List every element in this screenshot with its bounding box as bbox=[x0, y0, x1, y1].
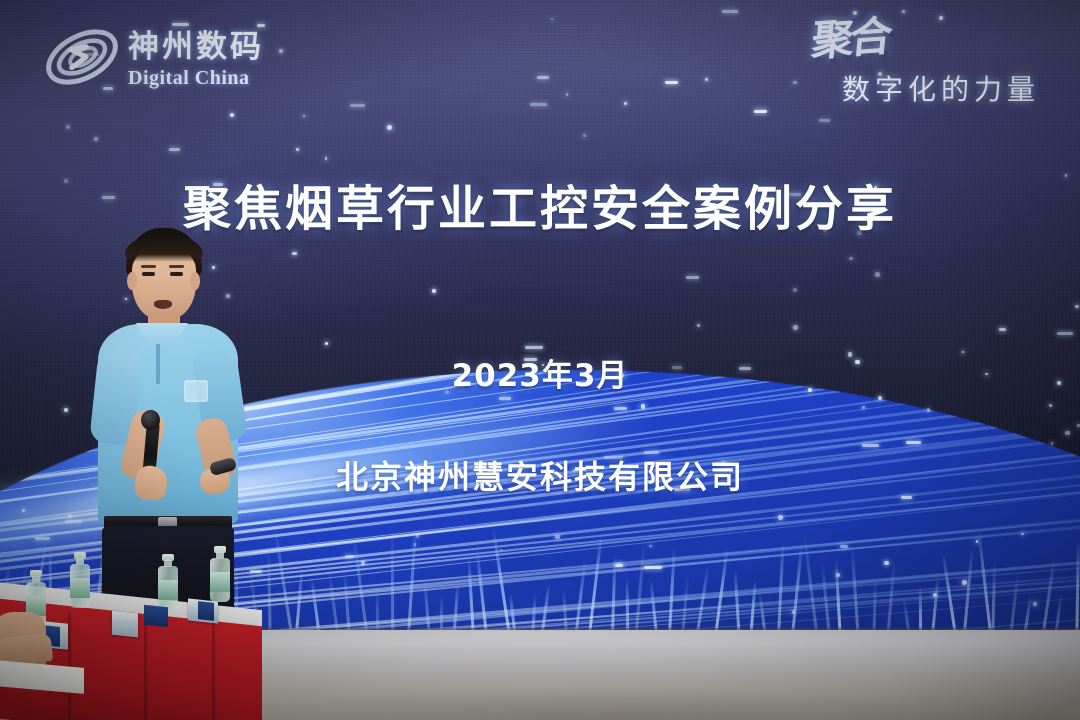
logo-name-en: Digital China bbox=[128, 68, 250, 88]
name-placard-blue-panel bbox=[198, 601, 214, 621]
digital-china-spiral-logo-icon bbox=[42, 24, 122, 90]
name-placard bbox=[112, 611, 138, 638]
speaker-eyebrow-left bbox=[141, 265, 156, 268]
digital-china-logo: 神州数码 Digital China bbox=[42, 18, 342, 98]
speaker-shirt-placket bbox=[156, 344, 160, 384]
conference-stage-photo: 神州数码 Digital China 聚合 数字化的力量 聚焦烟草行业工控安全案… bbox=[0, 0, 1080, 720]
speaker-eye-left bbox=[142, 272, 155, 276]
brand-calligraphy: 聚合 bbox=[810, 15, 890, 62]
bottle-label bbox=[158, 580, 178, 600]
speaker-mouth bbox=[154, 300, 172, 309]
speaker-eye-right bbox=[170, 272, 183, 276]
speaker-ear-left bbox=[127, 272, 137, 290]
logo-name-cn: 神州数码 bbox=[128, 32, 264, 63]
table-skirt-fold bbox=[144, 612, 147, 720]
speaker-hair-fringe bbox=[125, 236, 203, 262]
brand-tagline: 数字化的力量 bbox=[842, 76, 1040, 104]
table-skirt-fold bbox=[212, 612, 215, 720]
bottle-label bbox=[70, 578, 90, 598]
bottle-label bbox=[210, 572, 230, 592]
speaker-ear-right bbox=[190, 272, 200, 290]
event-branding: 聚合 数字化的力量 bbox=[806, 16, 1066, 116]
stage-floor-shadow bbox=[250, 660, 1080, 720]
speaker-shirt-logo-patch bbox=[184, 380, 208, 402]
speaker-eyebrow-right bbox=[169, 265, 184, 268]
name-placard-blue-panel bbox=[144, 605, 168, 628]
